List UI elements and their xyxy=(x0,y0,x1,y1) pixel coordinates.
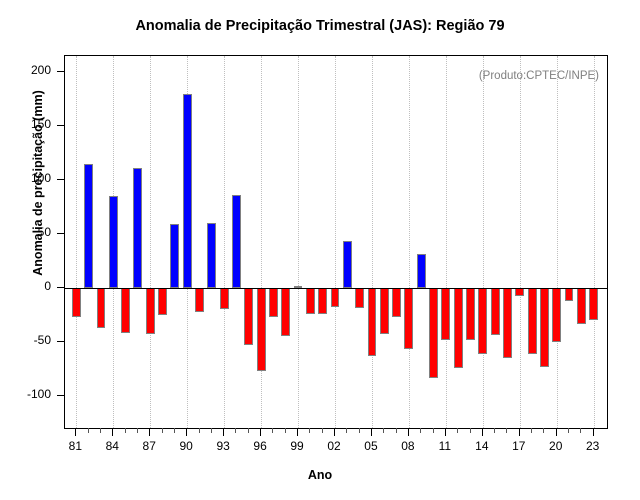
x-tick-mark-2001 xyxy=(322,428,323,433)
bar-2019 xyxy=(540,288,549,367)
bar-2010 xyxy=(429,288,438,379)
y-axis-label: Anomalia de precipitação (mm) xyxy=(31,53,45,313)
x-tick-label-14: 14 xyxy=(462,439,502,453)
y-tick-mark xyxy=(57,125,64,126)
bar-1995 xyxy=(244,288,253,345)
x-tick-mark-1992 xyxy=(211,428,212,433)
x-tick-mark-1984 xyxy=(112,428,113,436)
bar-1986 xyxy=(133,168,142,288)
x-tick-label-90: 90 xyxy=(166,439,206,453)
bar-2011 xyxy=(441,288,450,340)
x-tick-mark-1996 xyxy=(260,428,261,436)
x-tick-mark-2013 xyxy=(470,428,471,433)
x-tick-mark-2004 xyxy=(359,428,360,433)
bar-1998 xyxy=(281,288,290,337)
y-tick-label: -100 xyxy=(0,387,51,401)
x-tick-label-17: 17 xyxy=(499,439,539,453)
bar-1996 xyxy=(257,288,266,371)
x-tick-mark-1990 xyxy=(186,428,187,436)
x-tick-mark-1994 xyxy=(235,428,236,433)
bar-1997 xyxy=(269,288,278,317)
x-tick-mark-1988 xyxy=(162,428,163,433)
x-tick-mark-1986 xyxy=(137,428,138,433)
x-tick-mark-2010 xyxy=(433,428,434,433)
bar-2013 xyxy=(466,288,475,340)
bar-1981 xyxy=(72,288,81,317)
x-tick-label-87: 87 xyxy=(129,439,169,453)
bar-2005 xyxy=(368,288,377,356)
x-axis-label: Ano xyxy=(0,468,640,482)
y-tick-mark xyxy=(57,233,64,234)
x-tick-label-84: 84 xyxy=(92,439,132,453)
x-tick-mark-1982 xyxy=(88,428,89,433)
x-tick-mark-2016 xyxy=(506,428,507,433)
x-tick-label-02: 02 xyxy=(314,439,354,453)
bar-1992 xyxy=(207,223,216,288)
x-tick-mark-1983 xyxy=(100,428,101,433)
bar-1988 xyxy=(158,288,167,315)
x-tick-mark-2018 xyxy=(531,428,532,433)
bar-2001 xyxy=(318,288,327,314)
x-tick-mark-1989 xyxy=(174,428,175,433)
bar-2006 xyxy=(380,288,389,334)
x-tick-label-96: 96 xyxy=(240,439,280,453)
x-tick-label-93: 93 xyxy=(203,439,243,453)
bar-2000 xyxy=(306,288,315,314)
y-tick-mark xyxy=(57,341,64,342)
bars-layer xyxy=(65,56,607,428)
x-tick-label-81: 81 xyxy=(55,439,95,453)
x-tick-mark-2019 xyxy=(543,428,544,433)
bar-2023 xyxy=(589,288,598,320)
bar-2008 xyxy=(404,288,413,349)
bar-2003 xyxy=(343,241,352,287)
x-tick-label-05: 05 xyxy=(351,439,391,453)
bar-2007 xyxy=(392,288,401,317)
bar-1982 xyxy=(84,164,93,288)
bar-2002 xyxy=(331,288,340,307)
y-tick-mark xyxy=(57,179,64,180)
x-tick-mark-2014 xyxy=(482,428,483,436)
x-tick-mark-2009 xyxy=(420,428,421,433)
chart-title: Anomalia de Precipitação Trimestral (JAS… xyxy=(0,18,640,34)
x-tick-mark-1997 xyxy=(272,428,273,433)
x-tick-label-08: 08 xyxy=(388,439,428,453)
bar-1991 xyxy=(195,288,204,312)
x-tick-mark-2011 xyxy=(445,428,446,436)
x-tick-mark-2003 xyxy=(346,428,347,433)
y-tick-label: -50 xyxy=(0,333,51,347)
x-tick-mark-2020 xyxy=(556,428,557,436)
y-tick-mark xyxy=(57,71,64,72)
bar-1985 xyxy=(121,288,130,333)
bar-2017 xyxy=(515,288,524,297)
x-tick-mark-2023 xyxy=(593,428,594,436)
x-tick-mark-2002 xyxy=(334,428,335,436)
bar-2021 xyxy=(565,288,574,301)
bar-2022 xyxy=(577,288,586,325)
x-tick-mark-2008 xyxy=(408,428,409,436)
bar-2004 xyxy=(355,288,364,308)
bar-1983 xyxy=(97,288,106,328)
bar-1984 xyxy=(109,196,118,288)
x-tick-label-11: 11 xyxy=(425,439,465,453)
x-tick-mark-2007 xyxy=(396,428,397,433)
x-tick-mark-2000 xyxy=(309,428,310,433)
x-tick-mark-1991 xyxy=(199,428,200,433)
x-tick-mark-1995 xyxy=(248,428,249,433)
x-tick-label-99: 99 xyxy=(277,439,317,453)
bar-1989 xyxy=(170,224,179,288)
zero-line xyxy=(65,288,607,289)
x-tick-mark-1999 xyxy=(297,428,298,436)
x-tick-mark-2015 xyxy=(494,428,495,433)
x-tick-mark-2022 xyxy=(580,428,581,433)
x-tick-mark-2017 xyxy=(519,428,520,436)
bar-2016 xyxy=(503,288,512,358)
bar-1993 xyxy=(220,288,229,310)
x-tick-mark-2012 xyxy=(457,428,458,433)
x-tick-mark-1985 xyxy=(125,428,126,433)
bar-2012 xyxy=(454,288,463,368)
x-tick-label-23: 23 xyxy=(573,439,613,453)
x-tick-mark-1998 xyxy=(285,428,286,433)
x-tick-mark-1987 xyxy=(149,428,150,436)
bar-1990 xyxy=(183,94,192,288)
bar-1987 xyxy=(146,288,155,334)
source-annotation: (Produto:CPTEC/INPE) xyxy=(479,70,599,82)
x-tick-mark-1993 xyxy=(223,428,224,436)
y-tick-mark xyxy=(57,395,64,396)
bar-1994 xyxy=(232,195,241,288)
bar-2014 xyxy=(478,288,487,354)
x-tick-mark-1981 xyxy=(75,428,76,436)
bar-2018 xyxy=(528,288,537,354)
plot-area: (Produto:CPTEC/INPE) xyxy=(64,55,608,429)
x-tick-mark-2006 xyxy=(383,428,384,433)
bar-2015 xyxy=(491,288,500,335)
bar-2009 xyxy=(417,254,426,287)
x-tick-label-20: 20 xyxy=(536,439,576,453)
chart-figure: Anomalia de Precipitação Trimestral (JAS… xyxy=(0,0,640,500)
bar-2020 xyxy=(552,288,561,342)
y-tick-mark xyxy=(57,287,64,288)
x-tick-mark-2005 xyxy=(371,428,372,436)
x-tick-mark-2021 xyxy=(568,428,569,433)
